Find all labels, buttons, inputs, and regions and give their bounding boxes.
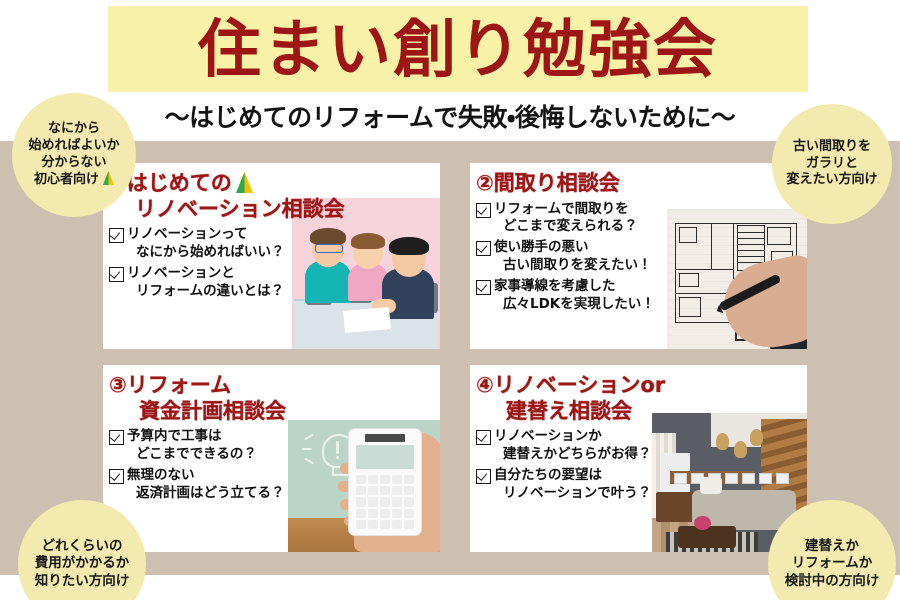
list-item-line2: 広々LDKを実現したい！: [494, 296, 655, 314]
panel-3-number: ③: [109, 373, 127, 397]
panel-3-heading: ③リフォーム 資金計画相談会: [103, 365, 440, 424]
list-item-line1: 家事導線を考慮した: [494, 278, 655, 296]
beginner-mark-icon: [236, 172, 253, 193]
list-item: リフォームで間取りを どこまで変えられる？: [476, 201, 807, 237]
seminar-poster: 住まい創り勉強会 〜はじめてのリフォームで失敗・後悔しないために〜: [0, 0, 900, 600]
panel-4-heading-line1: リノベーションor: [494, 373, 665, 397]
list-item-line1: リノベーションって: [127, 226, 285, 244]
list-item: 自分たちの要望は リノベーションで叶う？: [476, 467, 807, 503]
list-item-line2: 古い間取りを変えたい！: [494, 257, 652, 275]
checkbox-checked-icon: [476, 469, 491, 484]
panel-1-renovation-intro[interactable]: ①はじめての リノベーション相談会 リノベーションって なにから始めればいい？ …: [103, 163, 440, 349]
panel-1-heading-line2: リノベーション相談会: [109, 197, 440, 223]
checkbox-checked-icon: [109, 430, 124, 445]
panel-4-heading: ④リノベーションor 建替え相談会: [470, 365, 807, 424]
badge-line: ガラリと: [786, 156, 877, 173]
badge-line: 変えたい方向け: [786, 172, 877, 189]
list-item: リノベーションって なにから始めればいい？: [109, 226, 440, 262]
panel-3-budget[interactable]: ③リフォーム 資金計画相談会 予算内で工事は どこまでできるの？ 無理のない 返…: [103, 365, 440, 552]
badge-line: 知りたい方向け: [35, 573, 130, 590]
list-item-line1: 予算内で工事は: [127, 428, 257, 446]
beginner-mark-icon: [103, 171, 114, 185]
badge-line: なにから: [28, 121, 119, 138]
checkbox-checked-icon: [476, 280, 491, 295]
panel-3-heading-line1: リフォーム: [127, 373, 231, 397]
list-item-line2: 建替えかどちらがお得？: [494, 446, 652, 464]
panel-2-heading-line1: 間取り相談会: [494, 171, 620, 195]
list-item-line2: なにから始めればいい？: [127, 244, 285, 262]
panel-4-number: ④: [476, 373, 494, 397]
panel-1-heading: ①はじめての リノベーション相談会: [103, 163, 440, 222]
panel-4-rebuild[interactable]: ④リノベーションor 建替え相談会 リノベーションか 建替えかどちらがお得？ 自…: [470, 365, 807, 552]
panel-3-heading-line2: 資金計画相談会: [109, 399, 440, 425]
title-banner: 住まい創り勉強会: [108, 6, 808, 92]
list-item: 使い勝手の悪い 古い間取りを変えたい！: [476, 239, 807, 275]
checkbox-checked-icon: [476, 203, 491, 218]
badge-line: 検討中の方向け: [785, 573, 880, 590]
checkbox-checked-icon: [109, 469, 124, 484]
panel-1-checklist: リノベーションって なにから始めればいい？ リノベーションと リフォームの違いと…: [109, 226, 440, 300]
checkbox-checked-icon: [476, 430, 491, 445]
list-item: 家事導線を考慮した 広々LDKを実現したい！: [476, 278, 807, 314]
badge-line: 建替えか: [785, 538, 880, 555]
list-item-line2: どこまでできるの？: [127, 446, 257, 464]
panel-2-floorplan[interactable]: ②間取り相談会 リフォームで間取りを どこまで変えられる？ 使い勝手の悪い 古い…: [470, 163, 807, 349]
list-item-line2: 返済計画はどう立てる？: [127, 485, 285, 503]
list-item-line2: リフォームの違いとは？: [127, 283, 284, 301]
list-item-line1: 無理のない: [127, 467, 285, 485]
list-item-line1: リノベーションか: [494, 428, 652, 446]
checkbox-checked-icon: [109, 267, 124, 282]
badge-line: 古い間取りを: [786, 139, 877, 156]
panel-4-checklist: リノベーションか 建替えかどちらがお得？ 自分たちの要望は リノベーションで叶う…: [476, 428, 807, 502]
panel-2-checklist: リフォームで間取りを どこまで変えられる？ 使い勝手の悪い 古い間取りを変えたい…: [476, 201, 807, 314]
checkbox-checked-icon: [109, 228, 124, 243]
list-item: リノベーションか 建替えかどちらがお得？: [476, 428, 807, 464]
list-item-line1: 使い勝手の悪い: [494, 239, 652, 257]
checkbox-checked-icon: [476, 241, 491, 256]
badge-line: 始めればよいか: [28, 138, 119, 155]
panel-3-checklist: 予算内で工事は どこまでできるの？ 無理のない 返済計画はどう立てる？: [109, 428, 440, 502]
list-item: 無理のない 返済計画はどう立てる？: [109, 467, 440, 503]
badge-line: どれくらいの: [35, 538, 130, 555]
panel-4-heading-line2: 建替え相談会: [476, 399, 807, 425]
panel-2-heading: ②間取り相談会: [470, 163, 807, 197]
list-item-line1: 自分たちの要望は: [494, 467, 651, 485]
list-item: リノベーションと リフォームの違いとは？: [109, 265, 440, 301]
badge-line: 費用がかかるか: [35, 555, 130, 572]
list-item-line2: どこまで変えられる？: [494, 218, 638, 236]
badge-top-left: なにから 始めればよいか 分からない 初心者向け: [12, 93, 136, 217]
list-item: 予算内で工事は どこまでできるの？: [109, 428, 440, 464]
list-item-line1: リフォームで間取りを: [494, 201, 638, 219]
list-item-line2: リノベーションで叶う？: [494, 485, 651, 503]
page-title: 住まい創り勉強会: [198, 18, 718, 81]
badge-top-right: 古い間取りを ガラリと 変えたい方向け: [772, 104, 892, 224]
panel-2-number: ②: [476, 171, 494, 195]
badge-line: リフォームか: [785, 555, 880, 572]
badge-line: 分からない: [28, 155, 119, 172]
panel-1-heading-line1: はじめての: [127, 171, 232, 195]
badge-line: 初心者向け: [34, 172, 99, 187]
subtitle: 〜はじめてのリフォームで失敗・後悔しないために〜: [0, 98, 900, 134]
list-item-line1: リノベーションと: [127, 265, 284, 283]
